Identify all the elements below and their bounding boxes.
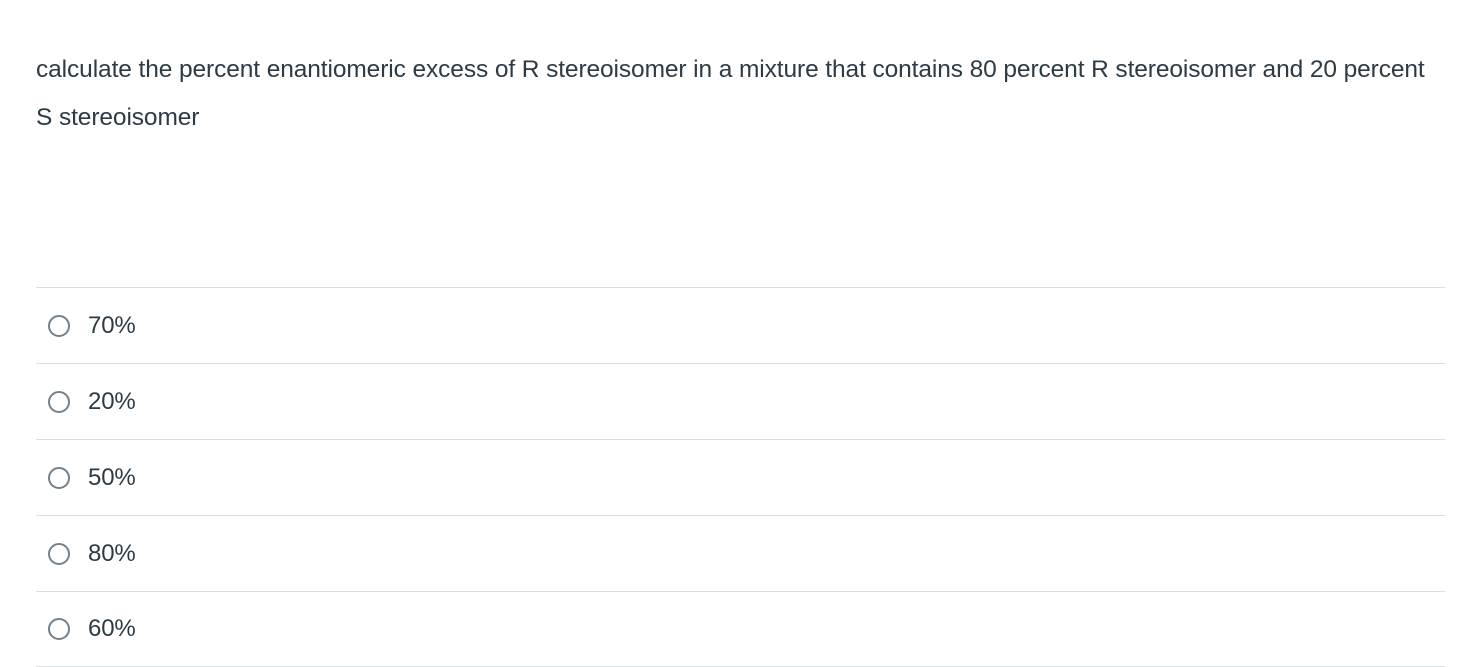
question-text: calculate the percent enantiomeric exces… bbox=[36, 46, 1436, 142]
answer-options-list: 70% 20% 50% 80% 60% bbox=[36, 287, 1445, 667]
radio-button-icon[interactable] bbox=[48, 315, 70, 337]
radio-button-icon[interactable] bbox=[48, 467, 70, 489]
answer-option-row[interactable]: 20% bbox=[36, 363, 1445, 439]
answer-option-label: 70% bbox=[88, 312, 136, 340]
radio-button-icon[interactable] bbox=[48, 391, 70, 413]
radio-button-icon[interactable] bbox=[48, 543, 70, 565]
answer-option-row[interactable]: 70% bbox=[36, 287, 1445, 363]
answer-option-label: 20% bbox=[88, 388, 136, 416]
answer-option-label: 80% bbox=[88, 540, 136, 568]
answer-option-label: 50% bbox=[88, 464, 136, 492]
answer-option-row[interactable]: 60% bbox=[36, 591, 1445, 667]
answer-option-row[interactable]: 50% bbox=[36, 439, 1445, 515]
radio-button-icon[interactable] bbox=[48, 618, 70, 640]
answer-option-label: 60% bbox=[88, 615, 136, 643]
quiz-question-page: calculate the percent enantiomeric exces… bbox=[0, 0, 1457, 664]
answer-option-row[interactable]: 80% bbox=[36, 515, 1445, 591]
